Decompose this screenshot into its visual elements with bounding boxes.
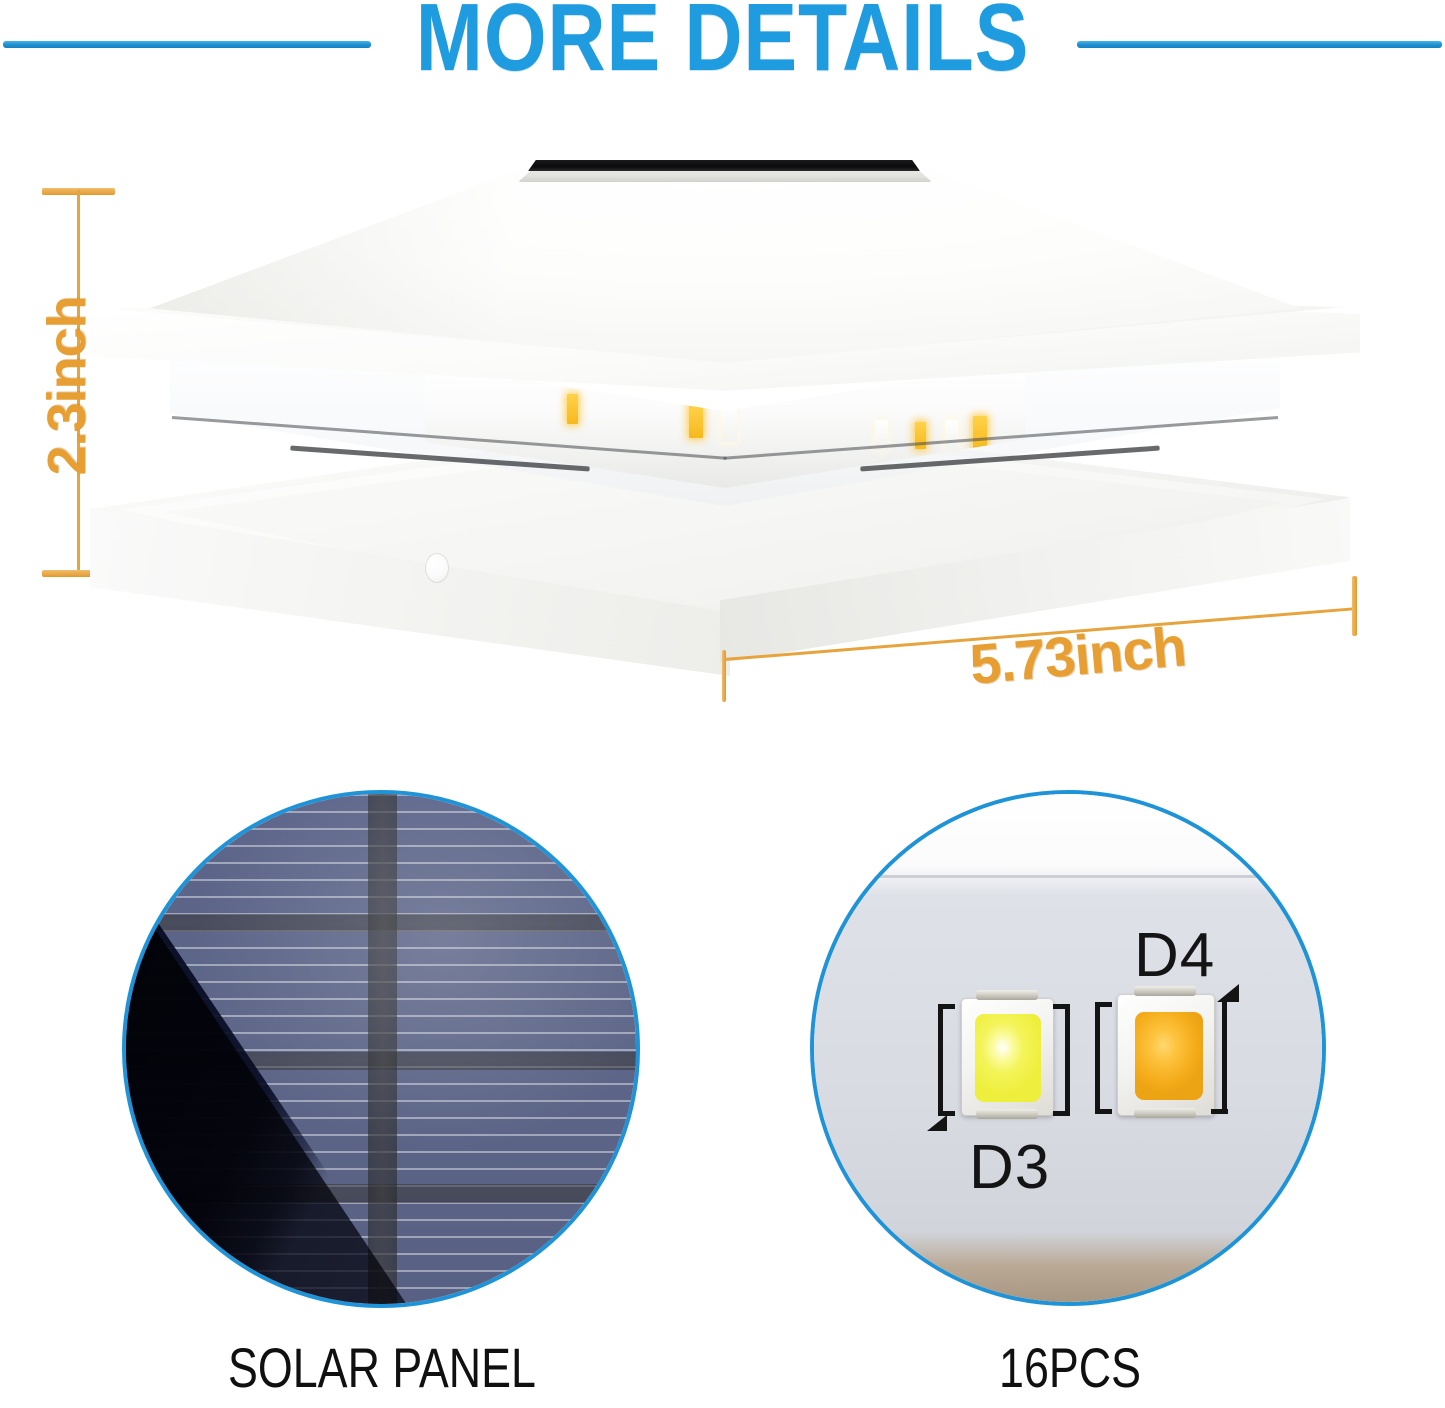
led-d4-bracket-left-bottom <box>1095 1109 1112 1114</box>
width-dimension-tick-right <box>1352 576 1357 636</box>
product-led-chip-3 <box>721 406 737 442</box>
power-button[interactable] <box>425 553 449 583</box>
led-d4-bracket-right-bottom <box>1211 1109 1228 1114</box>
solar-gloss-highlight <box>126 794 636 1304</box>
led-d3-bracket-left <box>938 1004 943 1116</box>
led-closeup: D3 D4 <box>810 790 1326 1306</box>
solar-panel-top <box>528 160 920 171</box>
led-d4-die <box>1135 1012 1203 1100</box>
width-dimension-label: 5.73inch <box>967 604 1291 697</box>
led-d4-bracket-left <box>1095 1002 1100 1114</box>
product-led-chip-2 <box>689 404 703 438</box>
header-rule-right <box>1077 41 1442 48</box>
led-d3-lead-top <box>976 990 1038 1000</box>
product-hero-section: 2.3inch 5.73inch <box>0 120 1445 720</box>
led-d3-lead-bottom <box>976 1109 1038 1119</box>
led-d4-bracket-left-top <box>1095 1002 1112 1007</box>
width-dimension: 5.73inch <box>700 540 1400 700</box>
product-led-chip-7 <box>973 416 987 450</box>
led-d3-bracket-right-top <box>1053 1004 1070 1009</box>
led-d3-package <box>961 998 1054 1116</box>
led-d4-bracket-right <box>1222 1002 1227 1114</box>
led-d4-package <box>1117 994 1215 1116</box>
led-d3-bracket-left-bottom <box>938 1111 955 1116</box>
pcb-top-edge <box>814 875 1322 878</box>
header-banner: MORE DETAILS <box>0 0 1445 110</box>
caption-led-count: 16PCS <box>814 1340 1326 1396</box>
product-led-chip-6 <box>945 420 958 451</box>
solar-panel-closeup <box>122 790 640 1308</box>
led-d4-lead-bottom <box>1134 1108 1196 1118</box>
led-d4-label: D4 <box>1134 920 1215 991</box>
led-d3-bracket-left-top <box>938 1004 955 1009</box>
led-d3-bracket-right <box>1065 1004 1070 1116</box>
led-d3-label: D3 <box>969 1132 1050 1203</box>
product-led-chip-1 <box>567 394 578 424</box>
caption-solar-panel: SOLAR PANEL <box>126 1340 638 1396</box>
led-d3-bracket-right-bottom <box>1053 1111 1070 1116</box>
led-d3-die <box>975 1014 1041 1102</box>
